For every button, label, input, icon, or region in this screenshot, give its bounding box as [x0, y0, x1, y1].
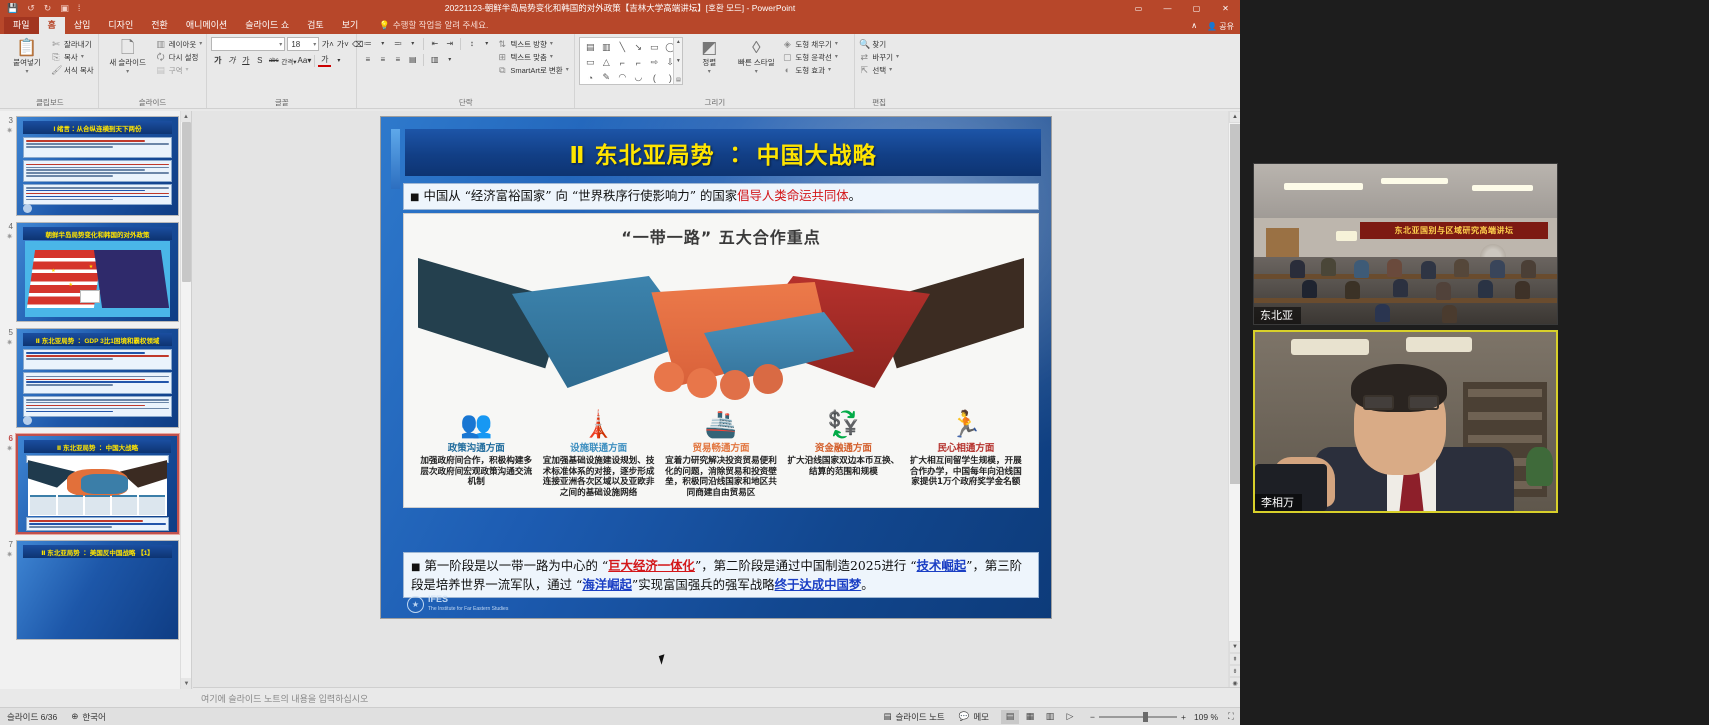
notes-toggle-button[interactable]: ▤ 슬라이드 노트: [876, 711, 951, 723]
shape-pie-icon[interactable]: ◔: [582, 70, 598, 85]
handshake-graphic: [28, 456, 168, 516]
currency-exchange-icon: 💱: [785, 402, 901, 438]
share-button[interactable]: 👤 공유: [1207, 21, 1234, 32]
shapes-gallery-scrollbar[interactable]: ▲ ▼ ▤: [673, 38, 682, 84]
pillar-text: 扩大沿线国家双边本币互换、结算的范围和规模: [785, 456, 901, 477]
thumbnail-image[interactable]: Ⅱ 东北亚局势 ： 中国大战略: [16, 434, 179, 534]
chevron-down-icon[interactable]: ▾: [708, 68, 711, 75]
tab-insert[interactable]: 삽입: [65, 17, 100, 34]
participant-name-speaker: 李相万: [1255, 494, 1302, 511]
chevron-down-icon[interactable]: ▾: [550, 52, 553, 63]
pillar-text: 宜着力研究解决投资贸易便利化的问题，消除贸易和投资壁垒，积极同沿线国家和地区共同…: [663, 456, 779, 498]
shape-textbox-icon[interactable]: ▤: [582, 40, 598, 55]
ifes-circle-icon: ★: [407, 596, 424, 613]
chevron-down-icon[interactable]: ▾: [443, 53, 456, 66]
statement-part-normal: 中国从 “经济富裕国家” 向 “世界秩序行使影响力” 的国家: [423, 188, 737, 203]
workspace: 3✷ I 绪言：从合纵连横到天下两份: [0, 111, 1240, 689]
slide-top-statement[interactable]: ■中国从 “经济富裕国家” 向 “世界秩序行使影响力” 的国家倡导人类命运共同体…: [403, 183, 1039, 210]
font-size-input[interactable]: 18 ▾: [287, 37, 319, 51]
shape-line-icon[interactable]: ╲: [614, 40, 630, 55]
window-controls[interactable]: ▭ — ▢ ✕: [1124, 0, 1240, 16]
pillar-title: 设施联通方面: [540, 440, 656, 454]
ribbon-tabs[interactable]: 파일 홈 삽입 디자인 전환 애니메이션 슬라이드 쇼 검토 보기 💡 수행할 …: [0, 16, 1240, 34]
section-label: 구역: [169, 65, 183, 76]
reading-view-icon[interactable]: ▥: [1041, 710, 1059, 724]
select-button[interactable]: ⇱ 선택 ▾: [859, 65, 899, 76]
font-color-button[interactable]: 가: [318, 54, 331, 67]
window-title: 20221123-朝鲜半岛局势变化和韩国的对外政策【吉林大学高端讲坛】[호환 모…: [0, 0, 1240, 16]
smartart-label: SmartArt로 변환: [510, 65, 562, 76]
replace-label: 바꾸기: [872, 52, 893, 63]
align-text-button[interactable]: ⊞ 텍스트 맞춤 ▾: [497, 52, 568, 63]
bold-button[interactable]: 가: [211, 54, 224, 67]
shape-fill-label: 도형 채우기: [795, 39, 832, 50]
shape-effects-button[interactable]: ◐ 도형 효과 ▾: [782, 65, 838, 76]
chevron-down-icon[interactable]: ▾: [81, 52, 84, 63]
tab-file[interactable]: 파일: [4, 17, 39, 34]
bottom-part-1: 巨大经济一体化: [608, 558, 695, 573]
shape-square-icon[interactable]: ▭: [582, 55, 598, 70]
shape-arc-icon[interactable]: ◠: [614, 70, 630, 85]
minimize-button[interactable]: —: [1153, 0, 1182, 16]
ifes-subtitle: The Institute for Far Eastern Studies: [428, 604, 508, 614]
chevron-down-icon[interactable]: ▾: [480, 37, 493, 50]
pillar-policy: 👥 政策沟通方面 加强政府间合作，积极构建多层次政府间宏观政策沟通交流机制: [418, 402, 534, 498]
thumbnail-slide-5[interactable]: 5✷ Ⅱ 东北亚局势 ： GDP 3比1困境和霸权领域: [0, 325, 191, 431]
ifes-footer-logo: ★ IFES The Institute for Far Eastern Stu…: [407, 594, 508, 614]
thumbnail-number: 7✷: [2, 540, 16, 559]
statement-part-highlight: 倡导人类命运共同体: [737, 188, 849, 203]
tab-slideshow[interactable]: 슬라이드 쇼: [236, 17, 298, 34]
thumbnail-number: 5✷: [2, 328, 16, 347]
paste-label: 붙여넣기: [13, 58, 41, 67]
shape-outline-button[interactable]: ▢ 도형 윤곽선 ▾: [782, 52, 838, 63]
classroom-scene: 东北亚国别与区域研究高端讲坛: [1254, 164, 1557, 324]
bullet-icon: ■: [411, 562, 420, 573]
thumbnail-title: Ⅱ 东北亚局势 ： 美国反中国战略 【1】: [23, 545, 171, 558]
gallery-more-icon[interactable]: ▤: [676, 77, 681, 83]
chevron-down-icon[interactable]: ▾: [126, 68, 129, 75]
shape-right-arrow-icon[interactable]: ⇨: [646, 55, 662, 70]
ribbon-group-paragraph: ≔ ▾ ≕ ▾ ⇤ ⇥ ↕ ▾ ≡: [357, 34, 575, 108]
normal-view-icon[interactable]: ▤: [1001, 710, 1019, 724]
video-tile-speaker[interactable]: 李相万: [1253, 330, 1558, 513]
infographic-title: “一带一路” 五大合作重点: [404, 224, 1038, 248]
shapes-gallery[interactable]: ▤ ▥ ╲ ↘ ▭ ◯ ▭ △ ⌐ ⌐ ⇨ ⇩ ◔ ✎ ◠: [579, 37, 683, 85]
select-icon: ⇱: [859, 65, 869, 76]
meeting-table-icon: 👥: [418, 402, 534, 438]
scroll-up-icon[interactable]: ▲: [676, 39, 681, 45]
arrange-label: 정렬: [702, 58, 716, 67]
slide-sorter-icon[interactable]: ▦: [1021, 710, 1039, 724]
align-left-button[interactable]: ≡: [361, 53, 374, 66]
animation-star-icon: ✷: [2, 444, 13, 453]
chevron-down-icon[interactable]: ▾: [550, 39, 553, 50]
speaker-scene: [1255, 332, 1556, 511]
reset-icon: 🗘: [156, 52, 166, 63]
participant-name-classroom: 东北亚: [1254, 307, 1301, 324]
shape-outline-icon: ▢: [782, 52, 792, 63]
shape-elbow-icon[interactable]: ⌐: [614, 55, 630, 70]
justify-button[interactable]: ▤: [406, 53, 419, 66]
cut-label: 잘라내기: [64, 39, 92, 50]
status-bar-right: ▤ 슬라이드 노트 💬 메모 ▤ ▦ ▥ ▷ − + 109 %: [876, 710, 1240, 724]
increase-indent-button[interactable]: ⇥: [443, 37, 456, 50]
notes-icon: ▤: [883, 711, 891, 722]
find-label: 찾기: [872, 39, 886, 50]
people-exchange-icon: 🏃: [908, 402, 1024, 438]
pillar-finance: 💱 资金融通方面 扩大沿线国家双边本币互换、结算的范围和规模: [785, 402, 901, 498]
zoom-slider[interactable]: − + 109 % ⛶: [1084, 711, 1240, 722]
comments-toggle-button[interactable]: 💬 메모: [952, 711, 996, 723]
chevron-down-icon[interactable]: ▾: [889, 65, 892, 76]
cargo-ship-icon: 🚢: [663, 402, 779, 438]
pillar-people: 🏃 民心相通方面 扩大相互间留学生规模，开展合作办学，中国每年向沿线国家提供1万…: [908, 402, 1024, 498]
thumbnail-number: 6✷: [2, 434, 16, 453]
bottom-part-2: ”，第二阶段是通过中国制造2025进行 “: [695, 558, 917, 573]
globe-icon: ⊕: [71, 711, 78, 722]
pillar-title: 贸易畅通方面: [663, 440, 779, 454]
zoom-thumb[interactable]: [1143, 712, 1148, 722]
chevron-down-icon[interactable]: ▾: [25, 68, 28, 75]
belt-and-road-infographic[interactable]: “一带一路” 五大合作重点: [403, 213, 1039, 508]
tab-design[interactable]: 디자인: [99, 17, 142, 34]
bottom-part-3: 技术崛起: [917, 558, 967, 573]
align-text-label: 텍스트 맞춤: [510, 52, 547, 63]
ribbon: 📋 붙여넣기 ▾ ✄ 잘라내기 ⎘ 복사 ▾: [0, 34, 1240, 109]
pillar-trade: 🚢 贸易畅通方面 宜着力研究解决投资贸易便利化的问题，消除贸易和投资壁垒，积极同…: [663, 402, 779, 498]
shape-arrow-icon[interactable]: ↘: [630, 40, 646, 55]
scroll-down-icon[interactable]: ▼: [676, 58, 681, 64]
smartart-icon: ⧉: [497, 65, 507, 76]
align-center-button[interactable]: ≡: [376, 53, 389, 66]
shadow-button[interactable]: S: [253, 54, 266, 67]
thumbnail-slide-6[interactable]: 6✷ Ⅱ 东北亚局势 ： 中国大战略: [0, 431, 191, 537]
statement-part-end: 。: [849, 188, 861, 203]
thumbnail-image[interactable]: I 绪言：从合纵连横到天下两份: [16, 116, 179, 216]
group-label-slides: 슬라이드: [103, 97, 203, 108]
animation-star-icon: ✷: [2, 232, 13, 241]
format-painter-icon: 🖌: [51, 65, 61, 76]
notes-pane[interactable]: 여기에 슬라이드 노트의 내용을 입력하십시오: [193, 687, 1240, 707]
slide-title[interactable]: Ⅱ 东北亚局势 ： 中国大战略: [405, 129, 1041, 176]
pillar-infrastructure: 🗼 设施联通方面 宜加强基础设施建设规划、技术标准体系的对接，逐步形成连接亚洲各…: [540, 402, 656, 498]
group-label-drawing: 그리기: [579, 97, 850, 108]
slide-counter[interactable]: 슬라이드 6/36: [0, 711, 64, 723]
thumbnail-title: 朝鲜半岛局势变化和韩国的对外政策: [23, 227, 171, 240]
reset-button[interactable]: 🗘 다시 설정: [156, 52, 203, 63]
new-slide-button[interactable]: 🗋 새 슬라이드 ▾: [103, 37, 153, 75]
arrange-icon: ◩: [701, 39, 717, 57]
comments-label: 메모: [973, 711, 989, 723]
chevron-down-icon[interactable]: ▾: [186, 65, 189, 76]
increase-font-size-button[interactable]: 가˄: [321, 38, 334, 51]
thumbnail-slide-7[interactable]: 7✷ Ⅱ 东北亚局势 ： 美国反中国战略 【1】: [0, 537, 191, 643]
numbering-button[interactable]: ≕: [391, 37, 404, 50]
paste-button[interactable]: 📋 붙여넣기 ▾: [6, 37, 48, 75]
scrollbar-thumb[interactable]: [182, 122, 191, 282]
tell-me-box[interactable]: 💡 수행할 작업을 알려 주세요.: [379, 19, 488, 34]
zoom-track[interactable]: [1099, 716, 1177, 718]
chevron-down-icon[interactable]: ▾: [199, 39, 202, 50]
zoom-level-label[interactable]: 109 %: [1190, 712, 1218, 722]
ifes-logo-icon: [23, 204, 32, 213]
pillar-text: 加强政府间合作，积极构建多层次政府间宏观政策沟通交流机制: [418, 456, 534, 488]
text-direction-icon: ⇅: [497, 39, 507, 50]
slide-bottom-statement[interactable]: ■第一阶段是以一带一路为中心的 “巨大经济一体化”，第二阶段是通过中国制造202…: [403, 552, 1039, 598]
align-text-icon: ⊞: [497, 52, 507, 63]
tab-animations[interactable]: 애니메이션: [177, 17, 236, 34]
layout-icon: ▥: [156, 39, 166, 50]
change-case-button[interactable]: Aa▾: [298, 54, 312, 67]
line-spacing-button[interactable]: ↕: [465, 37, 478, 50]
font-size-value: 18: [291, 40, 300, 49]
thumbnail-scrollbar[interactable]: ▲ ▼: [180, 111, 191, 689]
chevron-down-icon[interactable]: ▾: [755, 68, 758, 75]
replace-icon: ⇄: [859, 52, 869, 63]
animation-star-icon: ✷: [2, 126, 13, 135]
bullet-icon: ■: [410, 192, 419, 203]
convert-to-smartart-button[interactable]: ⧉ SmartArt로 변환 ▾: [497, 65, 568, 76]
flag-graphic: ★ ★ ★: [25, 241, 170, 317]
thumbnail-image[interactable]: 朝鲜半岛局势变化和韩国的对外政策 ★ ★ ★: [16, 222, 179, 322]
shape-effects-label: 도형 효과: [795, 65, 825, 76]
comment-icon: 💬: [959, 711, 970, 722]
chevron-down-icon[interactable]: ▾: [313, 41, 318, 48]
copy-label: 복사: [64, 52, 78, 63]
animation-star-icon: ✷: [2, 550, 13, 559]
bottom-part-0: 第一阶段是以一带一路为中心的 “: [424, 558, 608, 573]
align-right-button[interactable]: ≡: [391, 53, 404, 66]
text-direction-label: 텍스트 방향: [510, 39, 547, 50]
collapse-ribbon-icon[interactable]: ∧: [1191, 21, 1197, 32]
new-slide-label: 새 슬라이드: [109, 58, 146, 67]
bottom-part-6: ”实现富国强兵的强军战略: [632, 577, 775, 592]
quick-styles-label: 빠른 스타일: [738, 58, 775, 67]
copy-icon: ⎘: [51, 52, 61, 63]
thumbnail-title: Ⅱ 东北亚局势 ： 中国大战略: [24, 440, 170, 453]
language-label: 한국어: [82, 711, 105, 723]
tab-view[interactable]: 보기: [333, 17, 368, 34]
shape-rectangle-icon[interactable]: ▭: [646, 40, 662, 55]
format-painter-label: 서식 복사: [64, 65, 94, 76]
five-pillars-list: 👥 政策沟通方面 加强政府间合作，积极构建多层次政府间宏观政策沟通交流机制 🗼 …: [404, 402, 1038, 498]
fit-slide-icon[interactable]: ⛶: [1222, 711, 1234, 722]
pillar-title: 资金融通方面: [785, 440, 901, 454]
powerpoint-window: 💾 ↺ ↻ ▣ ⁞ 20221123-朝鲜半岛局势变化和韩国的对外政策【吉林大学…: [0, 0, 1240, 725]
quick-styles-icon: ◊: [752, 39, 760, 57]
thumbnail-slide-3[interactable]: 3✷ I 绪言：从合纵连横到天下两份: [0, 113, 191, 219]
bottom-part-8: 。: [861, 577, 873, 592]
decrease-indent-button[interactable]: ⇤: [428, 37, 441, 50]
shape-effects-icon: ◐: [782, 65, 792, 76]
character-spacing-button[interactable]: 간격▾: [281, 54, 296, 67]
thumbnail-title: I 绪言：从合纵连横到天下两份: [23, 121, 171, 134]
decrease-font-size-button[interactable]: 가˅: [336, 38, 349, 51]
language-indicator[interactable]: ⊕ 한국어: [64, 711, 113, 723]
tab-home[interactable]: 홈: [39, 17, 65, 34]
tab-review[interactable]: 검토: [298, 17, 333, 34]
slide-scrollbar[interactable]: ▲ ▼ ⇞ ⇟ ◉: [1228, 111, 1240, 689]
chevron-down-icon[interactable]: ▾: [566, 65, 569, 76]
strikethrough-button[interactable]: abc: [267, 54, 280, 67]
status-bar: 슬라이드 6/36 ⊕ 한국어 ▤ 슬라이드 노트 💬 메모 ▤ ▦ ▥: [0, 707, 1240, 725]
scrollbar-thumb[interactable]: [1230, 124, 1240, 484]
ribbon-group-clipboard: 📋 붙여넣기 ▾ ✄ 잘라내기 ⎘ 복사 ▾: [2, 34, 99, 108]
chevron-down-icon[interactable]: ▾: [835, 39, 838, 50]
cut-icon: ✄: [51, 39, 61, 50]
shape-curve-icon[interactable]: ◡: [630, 70, 646, 85]
group-label-font: 글꼴: [211, 97, 352, 108]
shape-triangle-icon[interactable]: △: [598, 55, 614, 70]
ifes-logo-icon: [23, 416, 32, 425]
chevron-down-icon[interactable]: ▾: [376, 37, 389, 50]
bottom-part-7: 终于达成中国梦: [775, 577, 862, 592]
slideshow-icon[interactable]: ▷: [1061, 710, 1079, 724]
thumbnail-number: 3✷: [2, 116, 16, 135]
shape-fill-icon: ◈: [782, 39, 792, 50]
group-label-editing: 편집: [859, 97, 899, 108]
plant-icon: [1526, 447, 1553, 486]
view-buttons[interactable]: ▤ ▦ ▥ ▷: [996, 710, 1084, 724]
chevron-down-icon[interactable]: ▾: [896, 52, 899, 63]
ribbon-group-font: ▾ 18 ▾ 가˄ 가˅ ⌫ 가 가 가 S: [207, 34, 357, 108]
cut-button[interactable]: ✄ 잘라내기: [51, 39, 94, 50]
quick-styles-button[interactable]: ◊ 빠른 스타일 ▾: [735, 37, 777, 75]
zoom-out-button[interactable]: −: [1090, 712, 1095, 722]
handshake-illustration: [404, 252, 1038, 402]
scroll-down-icon[interactable]: ▼: [181, 678, 192, 689]
shape-left-brace-icon[interactable]: (: [646, 70, 662, 85]
columns-button[interactable]: ▥: [428, 53, 441, 66]
bottom-part-5: 海洋崛起: [582, 577, 632, 592]
paste-icon: 📋: [16, 39, 37, 57]
group-label-paragraph: 단락: [361, 97, 570, 108]
pillar-title: 政策沟通方面: [418, 440, 534, 454]
chevron-down-icon[interactable]: ▾: [828, 65, 831, 76]
section-icon: ▤: [156, 65, 166, 76]
video-tile-classroom[interactable]: 东北亚国别与区域研究高端讲坛: [1253, 163, 1558, 325]
format-painter-button[interactable]: 🖌 서식 복사: [51, 65, 94, 76]
thumbnail-number: 4✷: [2, 222, 16, 241]
underline-button[interactable]: 가: [239, 54, 252, 67]
pillar-title: 民心相通方面: [908, 440, 1024, 454]
power-tower-icon: 🗼: [540, 402, 656, 438]
text-direction-button[interactable]: ⇅ 텍스트 방향 ▾: [497, 39, 568, 50]
close-button[interactable]: ✕: [1211, 0, 1240, 16]
layout-button[interactable]: ▥ 레이아웃 ▾: [156, 39, 203, 50]
select-label: 선택: [872, 65, 886, 76]
section-button[interactable]: ▤ 구역 ▾: [156, 65, 203, 76]
screen: 💾 ↺ ↻ ▣ ⁞ 20221123-朝鲜半岛局势变化和韩国的对外政策【吉林大学…: [0, 0, 1709, 725]
title-bar: 💾 ↺ ↻ ▣ ⁞ 20221123-朝鲜半岛局势变化和韩国的对外政策【吉林大学…: [0, 0, 1240, 16]
thumbnail-slide-4[interactable]: 4✷ 朝鲜半岛局势变化和韩国的对外政策 ★ ★ ★: [0, 219, 191, 325]
shape-freeform-icon[interactable]: ✎: [598, 70, 614, 85]
thumbnail-image[interactable]: Ⅱ 东北亚局势 ： 美国反中国战略 【1】: [16, 540, 179, 640]
copy-button[interactable]: ⎘ 복사 ▾: [51, 52, 94, 63]
ifes-name: IFES The Institute for Far Eastern Studi…: [428, 594, 508, 614]
pillar-text: 扩大相互间留学生规模，开展合作办学，中国每年向沿线国家提供1万个政府奖学金名额: [908, 456, 1024, 488]
find-button[interactable]: 🔍 찾기: [859, 39, 899, 50]
tell-me-label: 수행할 작업을 알려 주세요.: [393, 19, 488, 31]
ribbon-group-slides: 🗋 새 슬라이드 ▾ ▥ 레이아웃 ▾ 🗘 다시 설정: [99, 34, 208, 108]
thumbnail-image[interactable]: Ⅱ 东北亚局势 ： GDP 3比1困境和霸权领域: [16, 328, 179, 428]
arrange-button[interactable]: ◩ 정렬 ▾: [688, 37, 730, 75]
search-icon: 🔍: [859, 39, 869, 50]
font-name-input[interactable]: ▾: [211, 37, 285, 51]
tab-transitions[interactable]: 전환: [142, 17, 177, 34]
classroom-banner: 东北亚国别与区域研究高端讲坛: [1360, 222, 1548, 240]
layout-label: 레이아웃: [169, 39, 197, 50]
shape-elbow2-icon[interactable]: ⌐: [630, 55, 646, 70]
group-label-clipboard: 클립보드: [6, 97, 94, 108]
notes-label: 슬라이드 노트: [895, 711, 944, 723]
slide-editor-pane[interactable]: Ⅱ 东北亚局势 ： 中国大战略 ■中国从 “经济富裕国家” 向 “世界秩序行使影…: [192, 111, 1240, 689]
maximize-button[interactable]: ▢: [1182, 0, 1211, 16]
replace-button[interactable]: ⇄ 바꾸기 ▾: [859, 52, 899, 63]
glasses-icon: [1363, 395, 1439, 410]
ribbon-group-drawing: ▤ ▥ ╲ ↘ ▭ ◯ ▭ △ ⌐ ⌐ ⇨ ⇩ ◔ ✎ ◠: [575, 34, 855, 108]
video-conference-panel: 东北亚国别与区域研究高端讲坛: [1240, 0, 1709, 725]
zoom-in-button[interactable]: +: [1181, 712, 1186, 722]
ribbon-display-options-button[interactable]: ▭: [1124, 0, 1153, 16]
italic-button[interactable]: 가: [225, 54, 238, 67]
current-slide[interactable]: Ⅱ 东北亚局势 ： 中国大战略 ■中国从 “经济富裕国家” 向 “世界秩序行使影…: [381, 117, 1051, 618]
pillar-text: 宜加强基础设施建设规划、技术标准体系的对接，逐步形成连接亚洲各次区域以及亚欧非之…: [540, 456, 656, 498]
chevron-down-icon[interactable]: ▾: [332, 54, 345, 67]
chevron-down-icon[interactable]: ▾: [835, 52, 838, 63]
shape-fill-button[interactable]: ◈ 도형 채우기 ▾: [782, 39, 838, 50]
ribbon-group-editing: 🔍 찾기 ⇄ 바꾸기 ▾ ⇱ 선택 ▾: [855, 34, 903, 108]
lightbulb-icon: 💡: [379, 20, 390, 31]
shape-vertical-textbox-icon[interactable]: ▥: [598, 40, 614, 55]
chevron-down-icon[interactable]: ▾: [406, 37, 419, 50]
shape-outline-label: 도형 윤곽선: [795, 52, 832, 63]
scroll-up-icon[interactable]: ▲: [181, 111, 191, 122]
slide-accent-bar: [391, 129, 400, 189]
chevron-down-icon[interactable]: ▾: [279, 41, 284, 48]
thumbnail-title: Ⅱ 东北亚局势 ： GDP 3比1困境和霸权领域: [23, 333, 171, 346]
ribbon-right-actions[interactable]: ∧ 👤 공유: [1191, 21, 1234, 32]
animation-star-icon: ✷: [2, 338, 13, 347]
reset-label: 다시 설정: [169, 52, 199, 63]
slide-thumbnail-pane[interactable]: 3✷ I 绪言：从合纵连横到天下两份: [0, 111, 192, 689]
bullets-button[interactable]: ≔: [361, 37, 374, 50]
new-slide-icon: 🗋: [121, 39, 135, 57]
